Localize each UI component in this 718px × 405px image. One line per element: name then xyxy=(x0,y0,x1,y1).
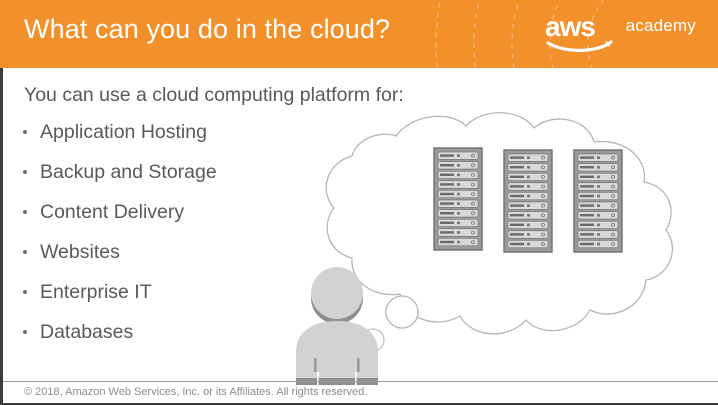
bullet-dot-icon xyxy=(23,330,27,334)
list-item-label: Backup and Storage xyxy=(40,161,217,183)
list-item-label: Databases xyxy=(40,321,133,343)
list-item: Content Delivery xyxy=(22,198,217,238)
bullet-dot-icon xyxy=(23,130,27,134)
list-item: Enterprise IT xyxy=(22,278,217,318)
bullet-list: Application Hosting Backup and Storage C… xyxy=(22,118,217,358)
aws-logo-icon: aws xyxy=(545,10,619,52)
list-item: Databases xyxy=(22,318,217,358)
server-rack-2 xyxy=(504,150,552,252)
list-item-label: Content Delivery xyxy=(40,201,184,223)
server-rack-1 xyxy=(434,148,482,250)
thought-bubble-large xyxy=(386,296,418,328)
server-rack-3 xyxy=(574,150,622,252)
list-item-label: Application Hosting xyxy=(40,121,207,143)
slide-canvas: What can you do in the cloud? aws academ… xyxy=(0,0,718,405)
cloud-illustration xyxy=(286,100,686,395)
list-item: Backup and Storage xyxy=(22,158,217,198)
list-item: Websites xyxy=(22,238,217,278)
svg-text:aws: aws xyxy=(545,11,595,42)
bullet-dot-icon xyxy=(23,170,27,174)
aws-academy-logo: aws academy xyxy=(545,10,696,54)
footer-divider xyxy=(3,381,718,382)
copyright-notice: © 2018, Amazon Web Services, Inc. or its… xyxy=(24,386,367,398)
list-item-label: Websites xyxy=(40,241,120,263)
bullet-dot-icon xyxy=(23,250,27,254)
bullet-dot-icon xyxy=(23,290,27,294)
page-title: What can you do in the cloud? xyxy=(24,14,390,45)
slide-header: What can you do in the cloud? aws academ… xyxy=(0,0,718,68)
list-item: Application Hosting xyxy=(22,118,217,158)
list-item-label: Enterprise IT xyxy=(40,281,152,303)
left-accent-rule xyxy=(0,68,3,405)
bullet-dot-icon xyxy=(23,210,27,214)
aws-academy-wordmark: academy xyxy=(626,16,696,36)
